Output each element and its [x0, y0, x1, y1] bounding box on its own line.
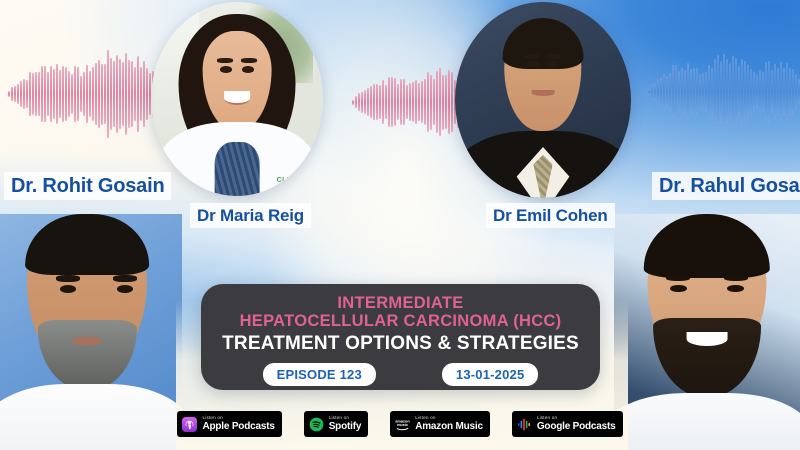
google-podcasts-icon	[517, 417, 532, 432]
badge-amazon-large: Amazon Music	[415, 422, 483, 432]
clinic-logo-text: CLINIC	[277, 177, 303, 184]
badge-google-large: Google Podcasts	[537, 422, 616, 432]
title-line-3: TREATMENT OPTIONS & STRATEGIES	[222, 333, 579, 354]
title-line-1: INTERMEDIATE	[337, 295, 463, 313]
episode-meta-row: EPISODE 123 13-01-2025	[263, 363, 539, 386]
badge-apple-small: Listen on	[202, 416, 274, 421]
badge-google-podcasts[interactable]: Listen on Google Podcasts	[512, 411, 623, 437]
poster-canvas: CLINIC Dr. Rohit Gosain Dr Maria Rei	[0, 0, 800, 450]
name-label-rahul-gosain: Dr. Rahul Gosain	[652, 172, 800, 200]
portrait-emil-cohen	[455, 2, 631, 198]
listen-on-badge-row: Listen on Apple Podcasts Listen on Spoti…	[0, 411, 800, 437]
name-label-rohit-gosain: Dr. Rohit Gosain	[4, 172, 171, 200]
apple-podcasts-icon	[182, 417, 197, 432]
title-line-2: HEPATOCELLULAR CARCINOMA (HCC)	[240, 313, 562, 331]
badge-amazon-small: Listen on	[415, 416, 483, 421]
badge-amazon-music[interactable]: amazon music Listen on Amazon Music	[390, 411, 490, 437]
waveform-right-decoration	[648, 40, 800, 144]
episode-title-card: INTERMEDIATE HEPATOCELLULAR CARCINOMA (H…	[201, 284, 600, 390]
episode-number-pill: EPISODE 123	[263, 363, 376, 386]
badge-spotify-small: Listen on	[329, 416, 362, 421]
badge-spotify[interactable]: Listen on Spotify	[304, 411, 369, 437]
name-label-emil-cohen: Dr Emil Cohen	[486, 203, 615, 228]
spotify-icon	[309, 417, 324, 432]
portrait-maria-reig: CLINIC	[151, 2, 323, 196]
badge-spotify-large: Spotify	[329, 422, 362, 432]
badge-google-small: Listen on	[537, 416, 616, 421]
amazon-music-icon: amazon music	[395, 417, 410, 432]
badge-apple-large: Apple Podcasts	[202, 422, 274, 432]
name-label-maria-reig: Dr Maria Reig	[190, 203, 311, 228]
badge-apple-podcasts[interactable]: Listen on Apple Podcasts	[177, 411, 281, 437]
episode-date-pill: 13-01-2025	[442, 363, 539, 386]
svg-text:music: music	[397, 423, 408, 427]
